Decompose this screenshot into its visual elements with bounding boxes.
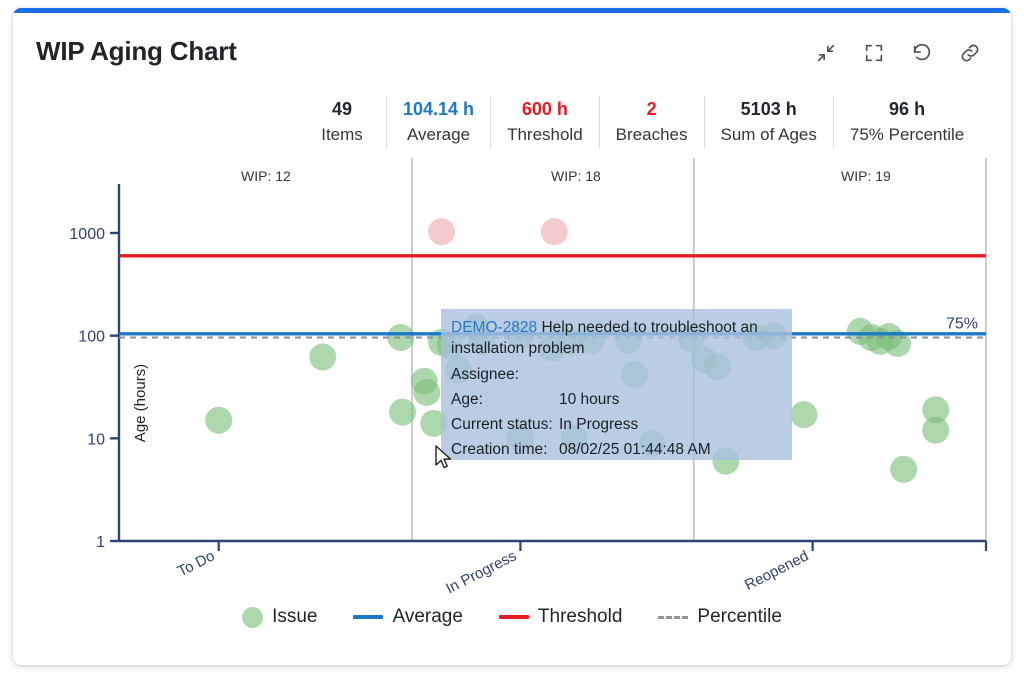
stat-items: 49Items bbox=[298, 96, 386, 148]
legend-item-average[interactable]: Average bbox=[353, 606, 462, 628]
card-toolbar bbox=[813, 40, 983, 66]
wip-count-label: WIP: 12 bbox=[241, 168, 291, 184]
data-point-issue[interactable] bbox=[890, 456, 917, 483]
stat-value: 2 bbox=[616, 96, 688, 122]
data-point-breach[interactable] bbox=[428, 218, 455, 245]
card-accent-bar bbox=[13, 8, 1011, 13]
stat-breaches: 2Breaches bbox=[599, 96, 704, 148]
tooltip-row: Current status:In Progress bbox=[441, 412, 792, 437]
issue-tooltip: DEMO-2828 Help needed to troubleshoot an… bbox=[441, 309, 792, 460]
stat-label: Sum of Ages bbox=[721, 122, 817, 148]
tooltip-fields: Assignee:Age:10 hoursCurrent status:In P… bbox=[441, 362, 792, 462]
data-point-issue[interactable] bbox=[790, 401, 817, 428]
tooltip-field-value bbox=[559, 362, 782, 387]
stat-label: Threshold bbox=[507, 122, 583, 148]
percentile-end-label: 75% bbox=[946, 315, 978, 332]
tooltip-row: Creation time:08/02/25 01:44:48 AM bbox=[441, 437, 792, 462]
stat-value: 600 h bbox=[507, 96, 583, 122]
stat-label: Average bbox=[403, 122, 474, 148]
legend-label: Issue bbox=[272, 606, 317, 628]
legend-label: Threshold bbox=[538, 606, 623, 628]
data-point-issue[interactable] bbox=[922, 417, 949, 444]
tooltip-row: Age:10 hours bbox=[441, 387, 792, 412]
y-axis-tick-label: 100 bbox=[78, 329, 105, 346]
stat-value: 5103 h bbox=[721, 96, 817, 122]
link-icon[interactable] bbox=[957, 40, 983, 66]
tooltip-row: Assignee: bbox=[441, 362, 792, 387]
stat-value: 96 h bbox=[850, 96, 964, 122]
data-point-issue[interactable] bbox=[205, 407, 232, 434]
collapse-icon[interactable] bbox=[813, 40, 839, 66]
x-axis-category-label: To Do bbox=[175, 547, 218, 580]
stat-threshold: 600 hThreshold bbox=[490, 96, 599, 148]
tooltip-field-value: 08/02/25 01:44:48 AM bbox=[559, 437, 782, 462]
page-title: WIP Aging Chart bbox=[36, 36, 237, 67]
data-point-issue[interactable] bbox=[413, 379, 440, 406]
refresh-icon[interactable] bbox=[909, 40, 935, 66]
data-point-issue[interactable] bbox=[309, 343, 336, 370]
data-point-issue[interactable] bbox=[389, 399, 416, 426]
legend-line-marker bbox=[353, 615, 383, 619]
data-point-breach[interactable] bbox=[541, 218, 568, 245]
stat-value: 49 bbox=[314, 96, 370, 122]
legend-dash-marker bbox=[658, 616, 688, 619]
tooltip-field-key: Creation time: bbox=[451, 437, 559, 462]
tooltip-field-key: Age: bbox=[451, 387, 559, 412]
legend-label: Average bbox=[392, 606, 462, 628]
legend-label: Percentile bbox=[697, 606, 782, 628]
x-axis-category-label: In Progress bbox=[443, 547, 519, 597]
stat-label: Breaches bbox=[616, 122, 688, 148]
wip-count-label: WIP: 19 bbox=[841, 168, 891, 184]
tooltip-issue-key[interactable]: DEMO-2828 bbox=[451, 319, 537, 336]
tooltip-summary: DEMO-2828 Help needed to troubleshoot an… bbox=[441, 317, 792, 362]
summary-stats: 49Items104.14 hAverage600 hThreshold2Bre… bbox=[298, 96, 980, 148]
stat-sum-of-ages: 5103 hSum of Ages bbox=[704, 96, 833, 148]
x-axis-category-label: Reopened bbox=[742, 547, 811, 594]
tooltip-field-value: 10 hours bbox=[559, 387, 782, 412]
y-axis-title: Age (hours) bbox=[132, 364, 149, 442]
stat-75-percentile: 96 h75% Percentile bbox=[833, 96, 980, 148]
legend-line-marker bbox=[499, 615, 529, 619]
legend-item-percentile[interactable]: Percentile bbox=[658, 606, 782, 628]
fullscreen-icon[interactable] bbox=[861, 40, 887, 66]
tooltip-field-value: In Progress bbox=[559, 412, 782, 437]
stat-label: Items bbox=[314, 122, 370, 148]
wip-count-label: WIP: 18 bbox=[551, 168, 601, 184]
tooltip-field-key: Assignee: bbox=[451, 362, 559, 387]
stat-label: 75% Percentile bbox=[850, 122, 964, 148]
stat-value: 104.14 h bbox=[403, 96, 474, 122]
y-axis-tick-label: 10 bbox=[87, 431, 105, 448]
chart-legend: IssueAverageThresholdPercentile bbox=[13, 606, 1011, 628]
legend-item-threshold[interactable]: Threshold bbox=[499, 606, 623, 628]
y-axis-tick-label: 1000 bbox=[69, 226, 105, 243]
y-axis-tick-label: 1 bbox=[96, 534, 105, 551]
wip-aging-chart-card: WIP Aging Chart 49Items104.14 h bbox=[13, 8, 1011, 665]
tooltip-field-key: Current status: bbox=[451, 412, 559, 437]
legend-item-issue[interactable]: Issue bbox=[242, 606, 317, 628]
legend-dot-marker bbox=[242, 607, 263, 628]
stat-average: 104.14 hAverage bbox=[386, 96, 490, 148]
